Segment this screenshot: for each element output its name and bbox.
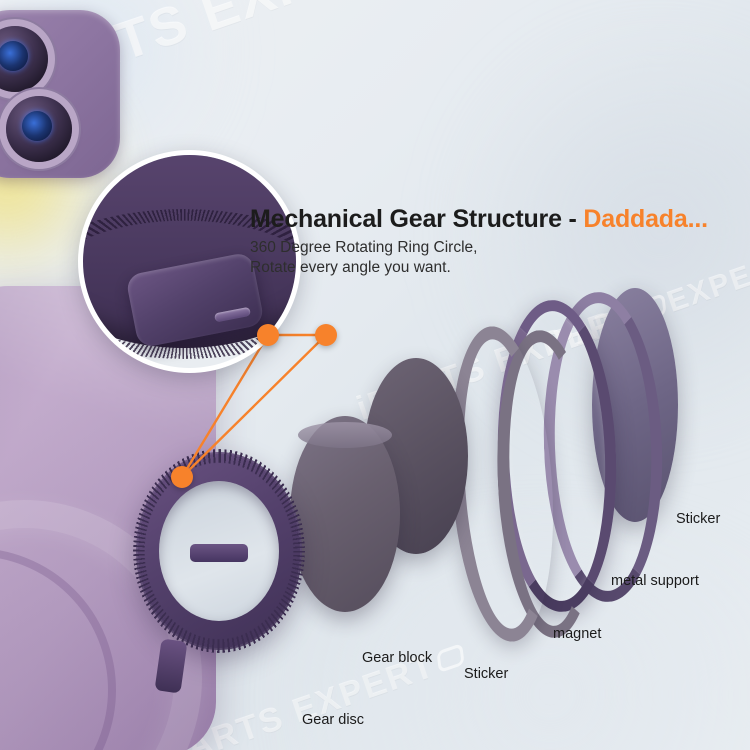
callout-dot-product [171, 466, 193, 488]
subtitle-line-1: 360 Degree Rotating Ring Circle, [250, 238, 477, 258]
title-accent: Daddada... [583, 205, 707, 233]
label-sticker-right: Sticker [676, 511, 720, 527]
label-gear-disc: Gear disc [302, 712, 364, 728]
product-infographic: iPARTS EXPERT iPARTS EXPERT iPARTS EXPER… [0, 0, 750, 750]
label-magnet: magnet [553, 626, 601, 642]
part-gear-block [290, 416, 400, 612]
camera-lens-bottom [6, 96, 72, 162]
label-gear-block: Gear block [362, 650, 432, 666]
gear-disc-notch [190, 544, 248, 562]
watermark-tag-icon [436, 643, 464, 673]
camera-island [0, 10, 120, 178]
gear-block-highlight [298, 422, 392, 448]
title-main: Mechanical Gear Structure - [250, 205, 583, 233]
lens-glass [22, 111, 52, 141]
label-sticker-middle: Sticker [464, 666, 508, 682]
lens-glass [0, 41, 28, 71]
page-title: Mechanical Gear Structure - Daddada... [250, 205, 708, 234]
subtitle-line-2: Rotate every angle you want. [250, 258, 477, 278]
camera-lens-top [0, 26, 48, 92]
callout-dot-left [257, 324, 279, 346]
part-gear-disc [136, 452, 302, 650]
callout-dot-right [315, 324, 337, 346]
page-subtitle: 360 Degree Rotating Ring Circle, Rotate … [250, 238, 477, 278]
label-metal-support: metal support [611, 573, 699, 589]
phone-ring-outline [0, 548, 116, 750]
